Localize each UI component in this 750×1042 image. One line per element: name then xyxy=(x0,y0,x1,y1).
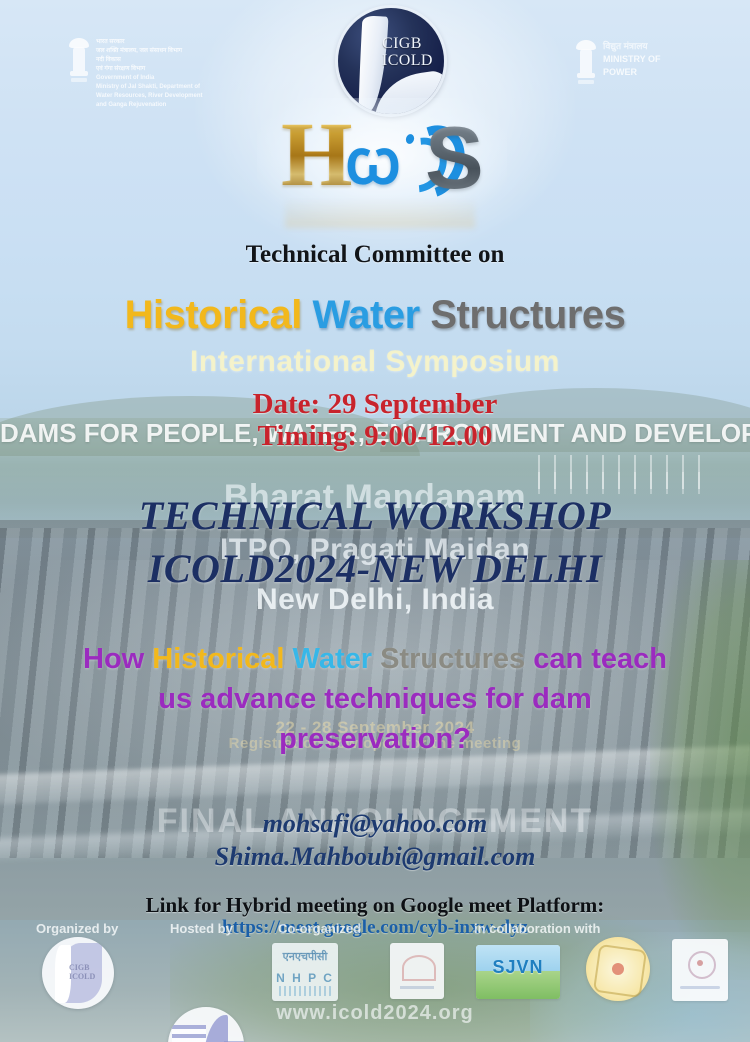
ministry-line-1: MINISTRY OF xyxy=(603,54,661,65)
label-co-organized: Co-organized xyxy=(278,921,361,936)
background-hatch-detail-2 xyxy=(532,472,702,494)
hws-wordmark-logo-icon: H ꞷ S xyxy=(275,112,485,212)
google-meet-label: Link for Hybrid meeting on Google meet P… xyxy=(0,893,750,918)
ashoka-lion-capital-icon xyxy=(575,38,597,88)
emblem-left-line-2: जल शक्ति मंत्रालय, जल संसाधन विभाग xyxy=(96,48,202,55)
sponsor-logo-row: Organized by Hosted by Co-organized in c… xyxy=(0,925,750,1020)
workshop-title-line-1: TECHNICAL WORKSHOP xyxy=(0,492,750,539)
hws-letter-h: H xyxy=(281,108,353,200)
icold-logo-line-2: ICOLD xyxy=(382,52,444,69)
question-prefix: How xyxy=(83,643,152,675)
title-word-water: Water xyxy=(313,293,420,337)
emblem-left-line-4: एवं गंगा संरक्षण विभाग xyxy=(96,66,202,73)
emblem-left-line-7: Water Resources, River Development xyxy=(96,93,202,100)
question-line-2: us advance techniques for dam xyxy=(0,683,750,716)
footer-gold-seal-logo-icon xyxy=(586,937,650,1001)
icold-logo-line-1: CIGB xyxy=(382,35,444,52)
ministry-of-power-emblem-right: विद्युत मंत्रालय MINISTRY OF POWER xyxy=(575,38,661,88)
hws-reflection xyxy=(285,198,475,228)
label-hosted-by: Hosted by xyxy=(170,921,233,936)
workshop-title-line-2: ICOLD2024-NEW DELHI xyxy=(0,545,750,592)
ministry-hindi-label: विद्युत मंत्रालय xyxy=(603,41,661,52)
label-in-collaboration: in collaboration with xyxy=(474,921,600,936)
question-line-1: How Historical Water Structures can teac… xyxy=(0,643,750,676)
question-word-historical: Historical xyxy=(152,643,284,675)
emblem-left-line-3: नदी विकास xyxy=(96,57,202,64)
government-of-india-emblem-left: भारत सरकार जल शक्ति मंत्रालय, जल संसाधन … xyxy=(68,36,202,109)
event-date: Date: 29 September xyxy=(0,388,750,421)
footer-cigb-icold-logo-icon: CIGBICOLD xyxy=(42,937,114,1009)
footer-crest-logo-icon xyxy=(672,939,728,1001)
hws-letter-s: S xyxy=(425,114,484,202)
footer-icold-logo-text: CIGBICOLD xyxy=(69,963,95,981)
question-suffix: can teach xyxy=(525,643,667,675)
title-word-historical: Historical xyxy=(125,293,302,337)
footer-nhpc-logo-icon: एनएचपीसी N H P C xyxy=(272,943,338,1001)
page-title: Historical Water Structures xyxy=(0,293,750,338)
committee-prefix: Technical Committee on xyxy=(0,241,750,269)
emblem-left-line-6: Ministry of Jal Shakti, Department of xyxy=(96,84,202,91)
title-word-structures: Structures xyxy=(430,293,625,337)
footer-partner-logo-icon xyxy=(390,943,444,999)
question-sep-2 xyxy=(372,643,380,675)
emblem-left-line-5: Government of India xyxy=(96,75,202,82)
contact-email-2[interactable]: Shima.Mahboubi@gmail.com xyxy=(0,842,750,872)
footer-cbip-dam-logo-icon xyxy=(168,1007,244,1042)
sjvn-text: SJVN xyxy=(476,957,560,978)
emblem-left-text: भारत सरकार जल शक्ति मंत्रालय, जल संसाधन … xyxy=(96,36,202,109)
nhpc-text: N H P C xyxy=(276,971,334,985)
question-sep-1 xyxy=(284,643,292,675)
question-word-water: Water xyxy=(293,643,373,675)
footer-sjvn-logo-icon: SJVN xyxy=(476,945,560,999)
ashoka-lion-capital-icon xyxy=(68,36,90,86)
event-timing: Timing: 9:00-12.00 xyxy=(0,420,750,453)
ministry-line-2: POWER xyxy=(603,67,661,78)
emblem-left-line-8: and Ganga Rejuvenation xyxy=(96,102,202,109)
question-line-3: preservation? xyxy=(0,723,750,756)
question-word-structures: Structures xyxy=(380,643,525,675)
poster: International Symposium DAMS FOR PEOPLE,… xyxy=(0,0,750,1042)
icold-logo-text: CIGB ICOLD xyxy=(382,35,444,69)
contact-email-1[interactable]: mohsafi@yahoo.com xyxy=(0,809,750,839)
nhpc-hindi-text: एनएचपीसी xyxy=(276,949,334,964)
emblem-right-text: विद्युत मंत्रालय MINISTRY OF POWER xyxy=(603,38,661,78)
emblem-left-line-1: भारत सरकार xyxy=(96,39,202,46)
label-organized-by: Organized by xyxy=(36,921,118,936)
